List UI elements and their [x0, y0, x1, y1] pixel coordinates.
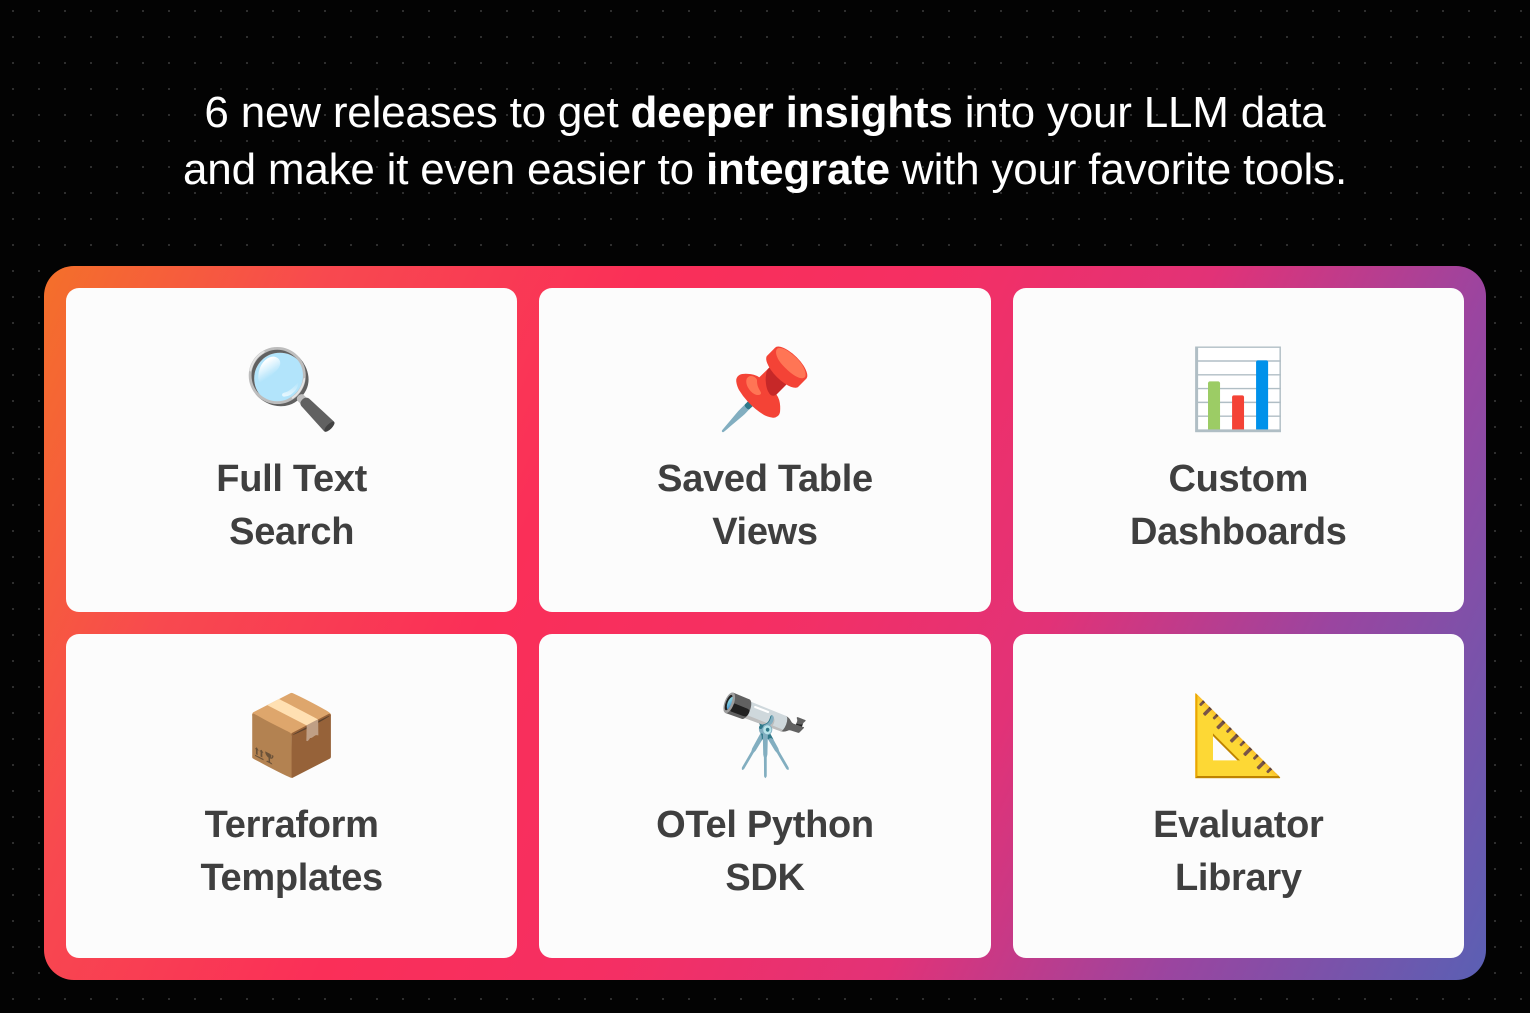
feature-card-saved-table-views[interactable]: 📌 Saved Table Views — [539, 288, 990, 612]
feature-card-label: Terraform Templates — [200, 799, 382, 905]
feature-card-label-line-1: Terraform — [205, 804, 379, 846]
feature-card-label: Custom Dashboards — [1130, 453, 1347, 559]
feature-card-label-line-2: Templates — [200, 852, 382, 905]
feature-card-full-text-search[interactable]: 🔍 Full Text Search — [66, 288, 517, 612]
feature-card-label-line-1: Saved Table — [657, 458, 873, 500]
headline-line-2-post: with your favorite tools. — [890, 145, 1347, 194]
headline-line-2-pre: and make it even easier to — [183, 145, 706, 194]
feature-card-custom-dashboards[interactable]: 📊 Custom Dashboards — [1013, 288, 1464, 612]
feature-card-label-line-2: Dashboards — [1130, 506, 1347, 559]
magnifying-glass-icon: 🔍 — [243, 337, 340, 441]
feature-card-label-line-2: Views — [657, 506, 873, 559]
pushpin-icon: 📌 — [716, 337, 813, 441]
feature-card-grid: 🔍 Full Text Search 📌 Saved Table Views 📊… — [66, 288, 1464, 958]
package-box-icon: 📦 — [243, 683, 340, 787]
feature-card-label-line-1: Evaluator — [1153, 804, 1323, 846]
headline-line-1: 6 new releases to get deeper insights in… — [60, 84, 1470, 141]
feature-card-label-line-1: Custom — [1169, 458, 1309, 500]
bar-chart-icon: 📊 — [1190, 337, 1287, 441]
feature-card-label-line-2: SDK — [656, 852, 874, 905]
headline-line-2: and make it even easier to integrate wit… — [60, 141, 1470, 198]
feature-card-label-line-1: OTel Python — [656, 804, 874, 846]
telescope-icon: 🔭 — [716, 683, 813, 787]
headline-line-1-pre: 6 new releases to get — [204, 88, 630, 137]
feature-card-otel-python-sdk[interactable]: 🔭 OTel Python SDK — [539, 634, 990, 958]
feature-card-label-line-1: Full Text — [216, 458, 367, 500]
page-headline: 6 new releases to get deeper insights in… — [0, 84, 1530, 198]
feature-card-label: Evaluator Library — [1153, 799, 1323, 905]
feature-panel: 🔍 Full Text Search 📌 Saved Table Views 📊… — [44, 266, 1486, 980]
headline-line-2-emphasis: integrate — [706, 145, 890, 194]
feature-card-evaluator-library[interactable]: 📐 Evaluator Library — [1013, 634, 1464, 958]
feature-card-label-line-2: Search — [216, 506, 367, 559]
triangular-ruler-icon: 📐 — [1190, 683, 1287, 787]
headline-line-1-emphasis: deeper insights — [631, 88, 953, 137]
feature-card-terraform-templates[interactable]: 📦 Terraform Templates — [66, 634, 517, 958]
feature-card-label-line-2: Library — [1153, 852, 1323, 905]
headline-line-1-post: into your LLM data — [953, 88, 1326, 137]
feature-card-label: OTel Python SDK — [656, 799, 874, 905]
feature-card-label: Saved Table Views — [657, 453, 873, 559]
feature-card-label: Full Text Search — [216, 453, 367, 559]
